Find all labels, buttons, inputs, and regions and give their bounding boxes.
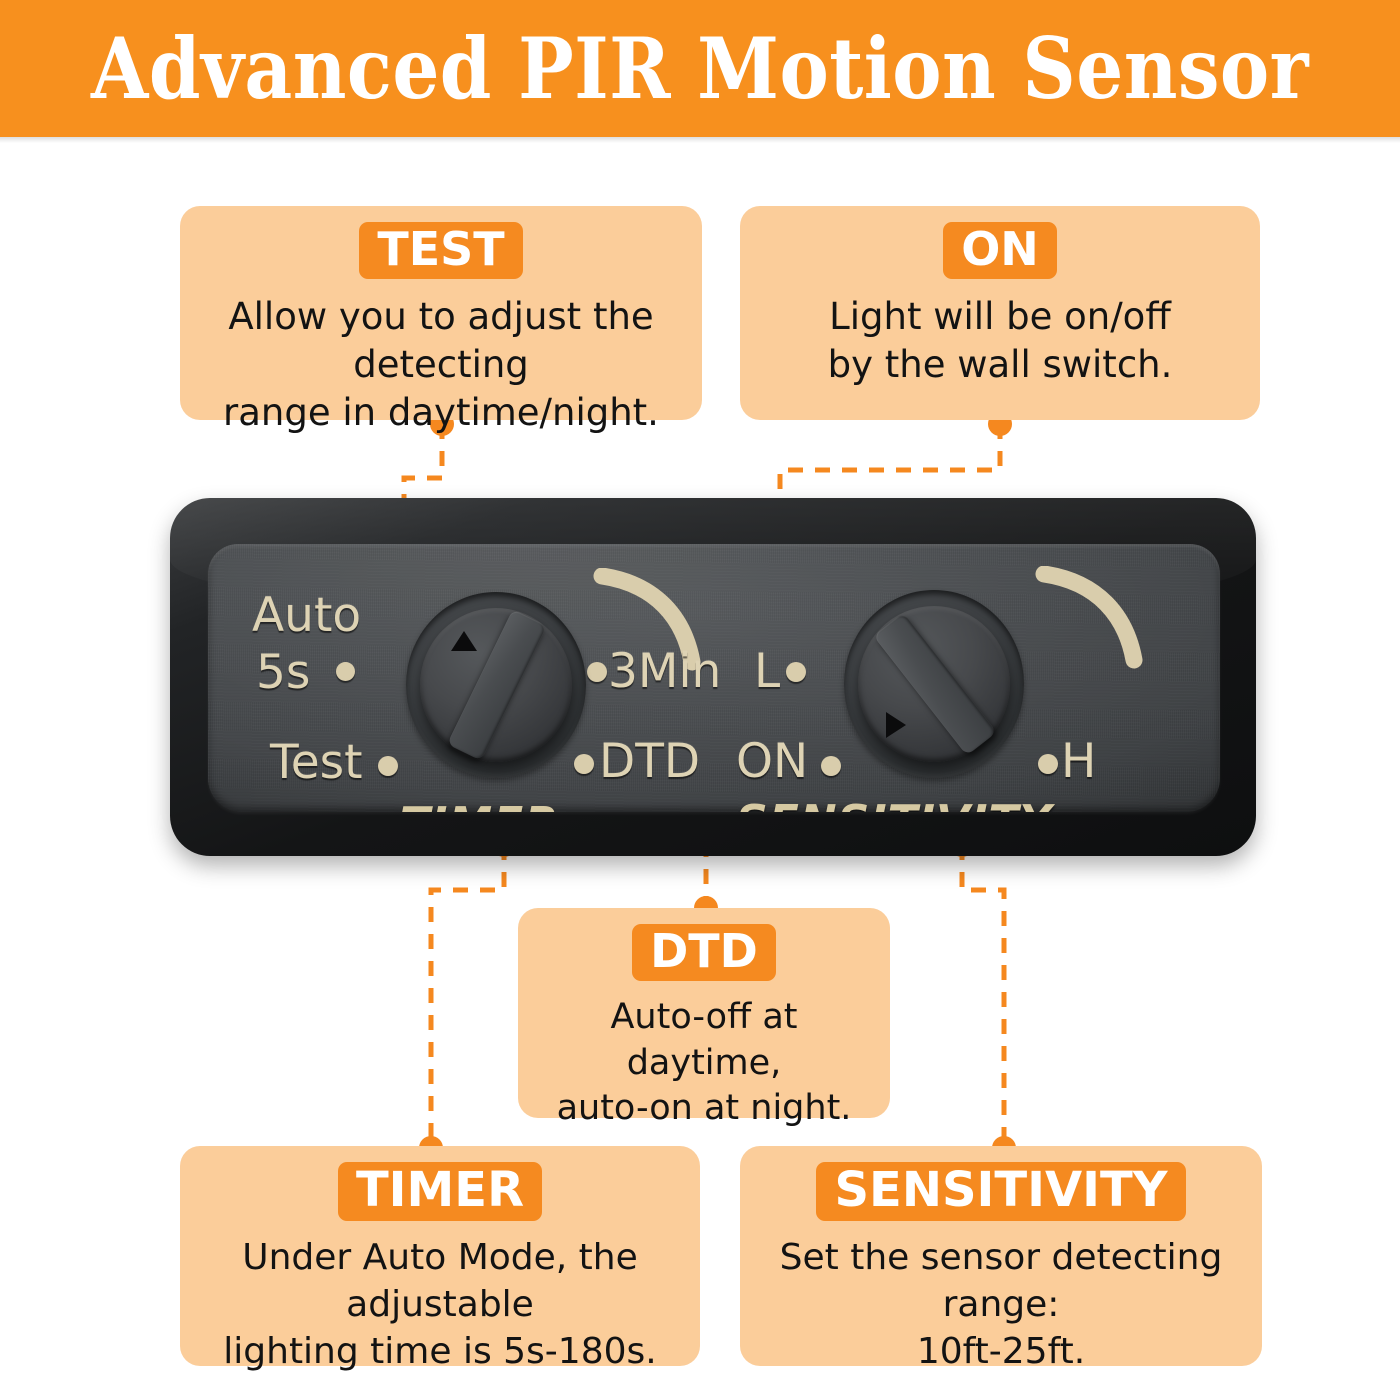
device-inner-panel: Auto 5s Test 3Min DTD TIMER L — [208, 544, 1220, 812]
timer-label-dtd: DTD — [599, 738, 700, 785]
timer-knob-pointer-icon — [451, 631, 477, 651]
timer-marker-dot-test — [378, 756, 398, 776]
sensitivity-marker-dot-low — [786, 662, 806, 682]
sensitivity-marker-dot-high — [1038, 754, 1058, 774]
callout-chip-test: TEST — [359, 222, 522, 279]
timer-label-auto: Auto — [252, 592, 361, 639]
callout-chip-timer: TIMER — [338, 1162, 542, 1221]
timer-marker-dot-5s — [336, 662, 355, 681]
timer-label-5s: 5s — [256, 649, 310, 696]
callout-card-test[interactable]: TEST Allow you to adjust the detecting r… — [180, 206, 702, 420]
callout-body-dtd: Auto-off at daytime, auto-on at night. — [536, 995, 872, 1132]
callout-card-dtd[interactable]: DTD Auto-off at daytime, auto-on at nigh… — [518, 908, 890, 1118]
timer-label-test: Test — [270, 739, 363, 786]
callout-chip-sensitivity: SENSITIVITY — [816, 1162, 1185, 1221]
connector-timer — [431, 845, 504, 1148]
callout-card-on[interactable]: ON Light will be on/off by the wall swit… — [740, 206, 1260, 420]
infographic-stage: Advanced PIR Motion Sensor — [0, 0, 1400, 1400]
callout-card-sensitivity[interactable]: SENSITIVITY Set the sensor detecting ran… — [740, 1146, 1262, 1366]
callout-body-test: Allow you to adjust the detecting range … — [198, 293, 684, 437]
header-banner: Advanced PIR Motion Sensor — [0, 0, 1400, 137]
sensitivity-dial-arc-icon — [1030, 566, 1160, 676]
pir-sensor-control-panel: Auto 5s Test 3Min DTD TIMER L — [170, 498, 1256, 856]
callout-body-timer: Under Auto Mode, the adjustable lighting… — [198, 1235, 682, 1375]
timer-dial-title: TIMER — [400, 802, 559, 812]
sensitivity-label-high: H — [1061, 738, 1096, 785]
sensitivity-knob[interactable] — [844, 590, 1024, 778]
sensitivity-knob-pointer-icon — [886, 712, 906, 738]
header-shadow-divider — [0, 137, 1400, 143]
connector-sensitivity — [962, 845, 1004, 1148]
callout-chip-dtd: DTD — [632, 924, 776, 981]
sensitivity-marker-dot-on — [821, 756, 841, 776]
callout-body-on: Light will be on/off by the wall switch. — [828, 293, 1173, 389]
callout-card-timer[interactable]: TIMER Under Auto Mode, the adjustable li… — [180, 1146, 700, 1366]
page-title: Advanced PIR Motion Sensor — [91, 27, 1309, 111]
callout-chip-on: ON — [943, 222, 1057, 279]
sensitivity-dial-title: SENSITIVITY — [736, 800, 1052, 812]
timer-label-3min: 3Min — [608, 648, 721, 695]
timer-knob[interactable] — [406, 592, 586, 778]
sensitivity-label-low: L — [754, 648, 780, 695]
sensitivity-label-on: ON — [736, 738, 808, 785]
callout-body-sensitivity: Set the sensor detecting range: 10ft-25f… — [758, 1235, 1244, 1375]
timer-marker-dot-3min — [587, 662, 607, 682]
